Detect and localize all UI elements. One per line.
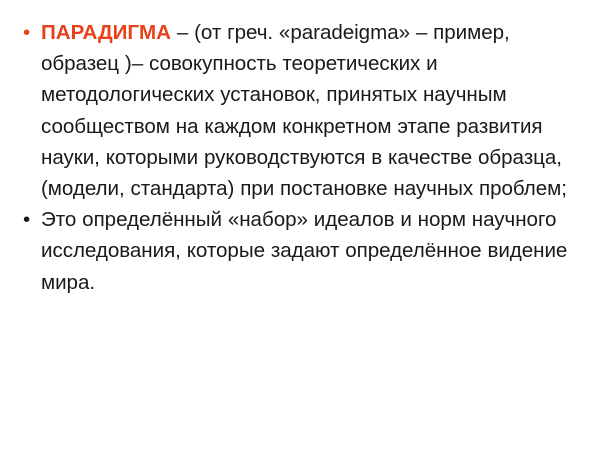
- list-item-text: ПАРАДИГМА – (от греч. «paradeigma» – при…: [41, 17, 592, 204]
- list-item-text: Это определённый «набор» идеалов и норм …: [41, 204, 592, 298]
- list-item: • ПАРАДИГМА – (от греч. «paradeigma» – п…: [18, 17, 592, 204]
- list-item: • Это определённый «набор» идеалов и нор…: [18, 204, 592, 298]
- term-paradigma: ПАРАДИГМА: [41, 21, 171, 44]
- slide-content-placeholder: • ПАРАДИГМА – (от греч. «paradeigma» – п…: [18, 17, 592, 298]
- bullet-marker-icon: •: [23, 17, 39, 48]
- bullet-marker-icon: •: [23, 204, 39, 235]
- list-item-body: Это определённый «набор» идеалов и норм …: [41, 208, 567, 293]
- slide-canvas: • ПАРАДИГМА – (от греч. «paradeigma» – п…: [0, 0, 600, 450]
- list-item-body: – (от греч. «paradeigma» – пример, образ…: [41, 21, 567, 200]
